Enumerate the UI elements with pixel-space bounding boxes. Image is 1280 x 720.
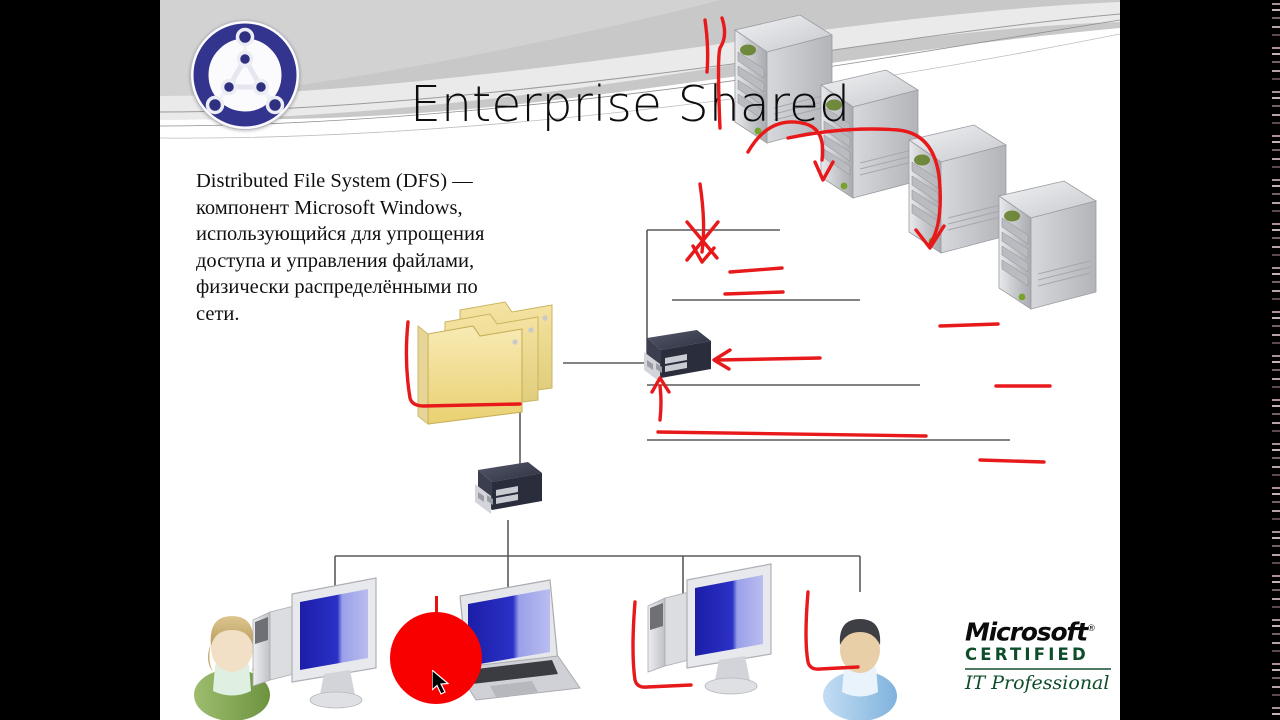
registered-mark: ® <box>1087 624 1095 634</box>
server-4 <box>999 181 1096 309</box>
workstation-2 <box>648 564 771 694</box>
video-frame: Enterprise Shared Distributed File Syste… <box>0 0 1280 720</box>
server-3 <box>909 125 1006 253</box>
ms-track-label: IT Professional <box>965 672 1115 694</box>
letterbox-left <box>0 0 160 720</box>
letterbox-right <box>1120 0 1280 720</box>
slide-body-text: Distributed File System (DFS) — компонен… <box>196 168 526 327</box>
user-avatar-male <box>823 619 897 720</box>
presentation-slide: Enterprise Shared Distributed File Syste… <box>160 0 1120 720</box>
page-title: Enterprise Shared <box>410 76 850 133</box>
workstation-1 <box>253 578 376 708</box>
microsoft-certified-logo: Microsoft® CERTIFIED IT Professional <box>965 617 1115 694</box>
ms-brand-text: Microsoft® <box>965 617 1115 644</box>
ms-brand-label: Microsoft <box>965 617 1087 646</box>
switch-upper <box>644 330 711 382</box>
video-edge-artifact <box>1272 0 1280 720</box>
switch-lower <box>475 462 542 514</box>
ms-level-label: CERTIFIED <box>965 644 1115 665</box>
dfs-logo-svg <box>191 21 299 129</box>
dfs-network-logo <box>190 20 300 130</box>
mouse-pointer-icon <box>432 670 452 698</box>
ms-divider <box>965 668 1111 670</box>
